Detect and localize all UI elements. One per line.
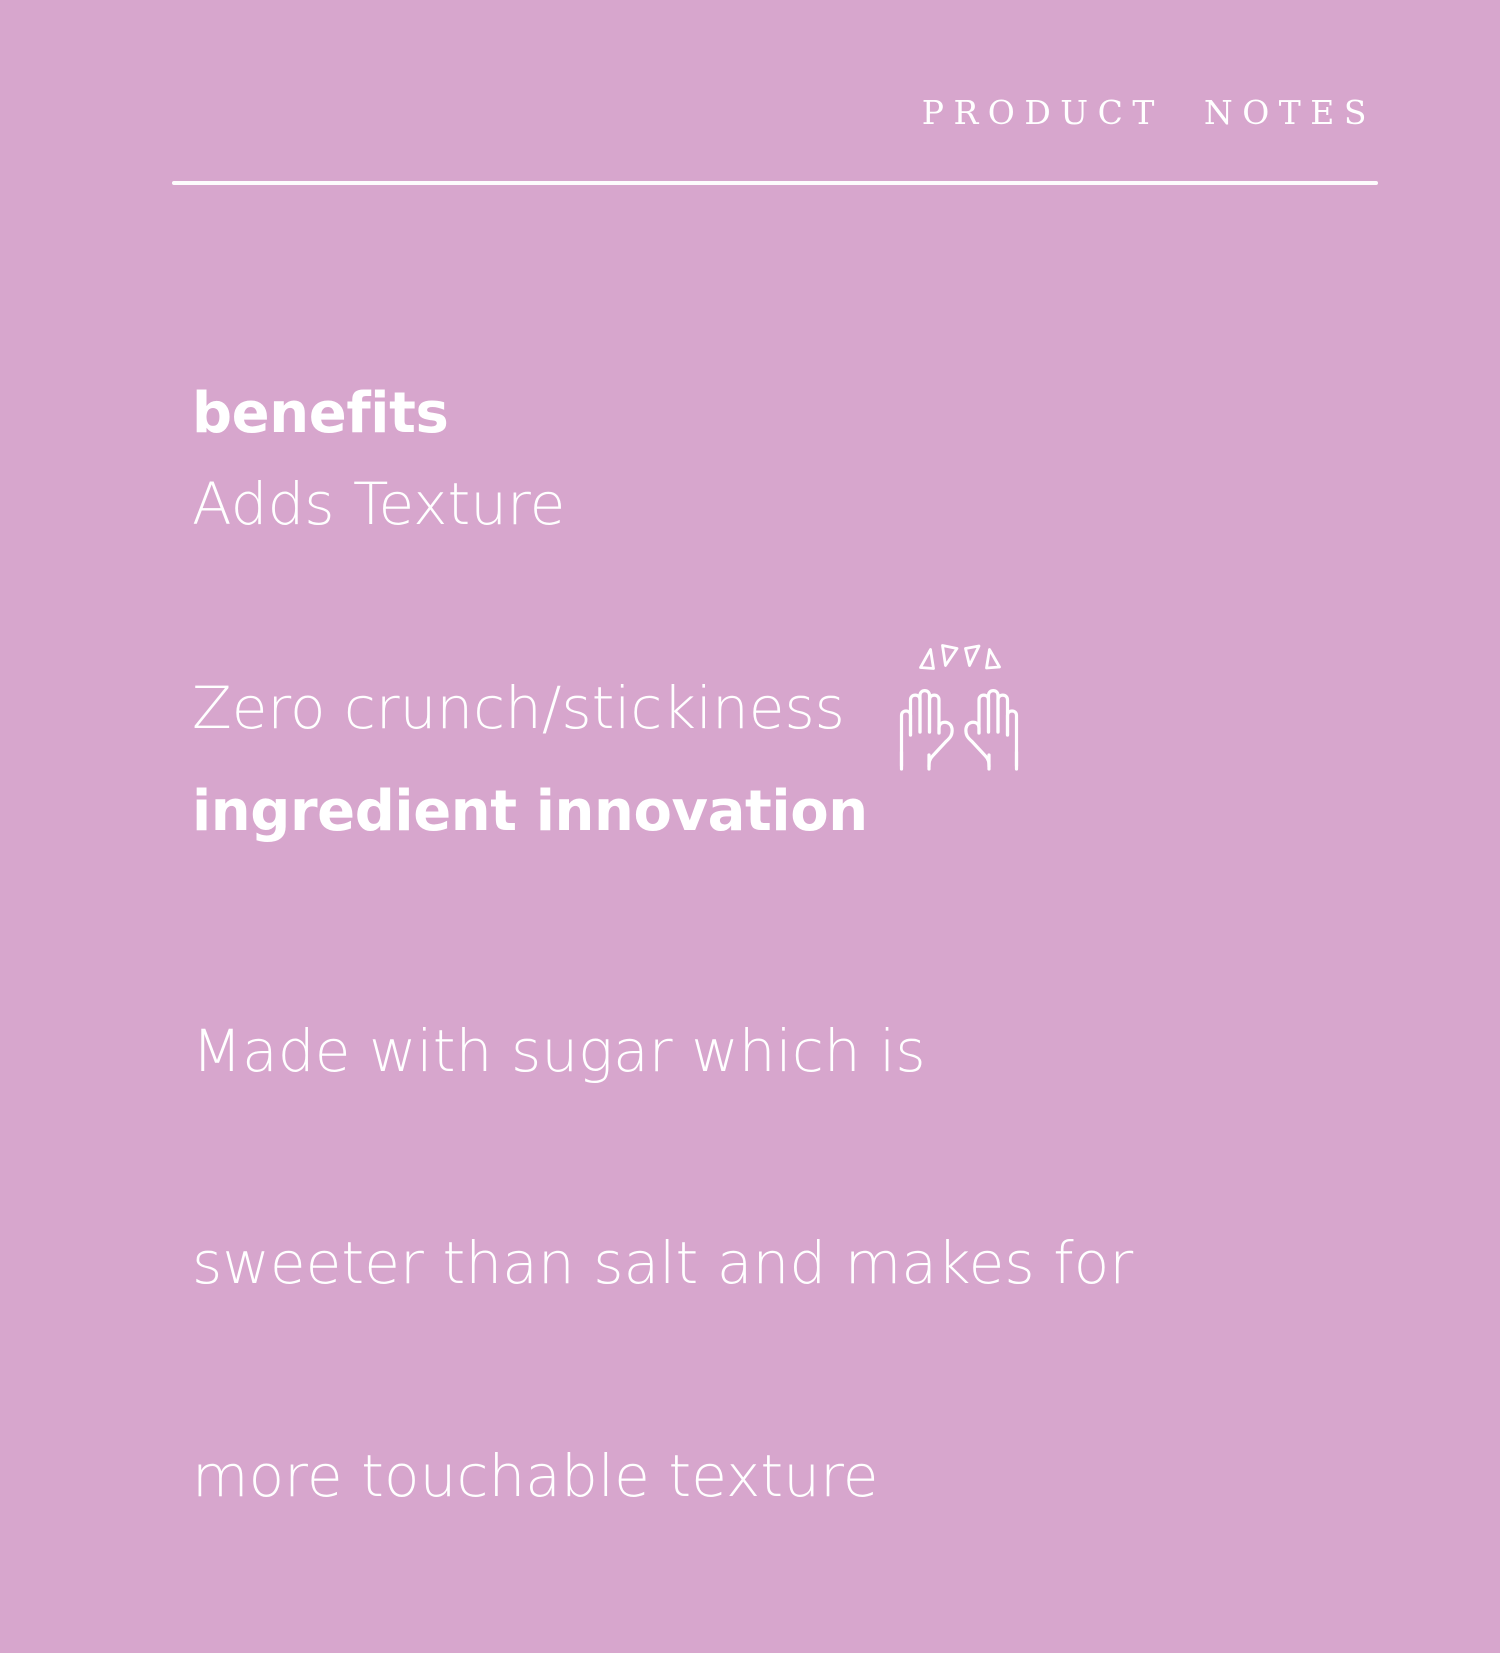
right-hand: [966, 690, 1017, 768]
header: PRODUCT NOTES: [172, 96, 1378, 185]
product-notes-card: PRODUCT NOTES benefits Adds Texture Zero…: [0, 0, 1500, 1500]
section-ingredient-innovation: ingredient innovation Made with sugar wh…: [192, 780, 1372, 1653]
ingredient-line-2: sweeter than salt and makes for: [192, 1228, 1372, 1299]
ingredient-line-1: Made with sugar which is: [192, 1016, 1372, 1087]
content-area: benefits Adds Texture Zero crunch/sticki…: [192, 382, 1372, 1653]
benefit-line-2: Zero crunch/stickiness: [192, 673, 845, 744]
page-title: PRODUCT NOTES: [172, 96, 1378, 129]
benefit-line-1: Adds Texture: [192, 469, 1372, 540]
left-hand: [901, 690, 952, 768]
benefit-row-2: Zero crunch/stickiness: [192, 638, 1372, 780]
ingredient-line-3: more touchable texture: [192, 1441, 1372, 1512]
header-divider: [172, 181, 1378, 185]
section-benefits: benefits Adds Texture Zero crunch/sticki…: [192, 382, 1372, 780]
raising-hands-icon: [889, 640, 1029, 780]
sparkle-marks: [920, 645, 999, 668]
section-heading-benefits: benefits: [192, 382, 1372, 447]
ingredient-paragraph: Made with sugar which is sweeter than sa…: [192, 875, 1372, 1653]
section-heading-ingredient-innovation: ingredient innovation: [192, 780, 1372, 845]
